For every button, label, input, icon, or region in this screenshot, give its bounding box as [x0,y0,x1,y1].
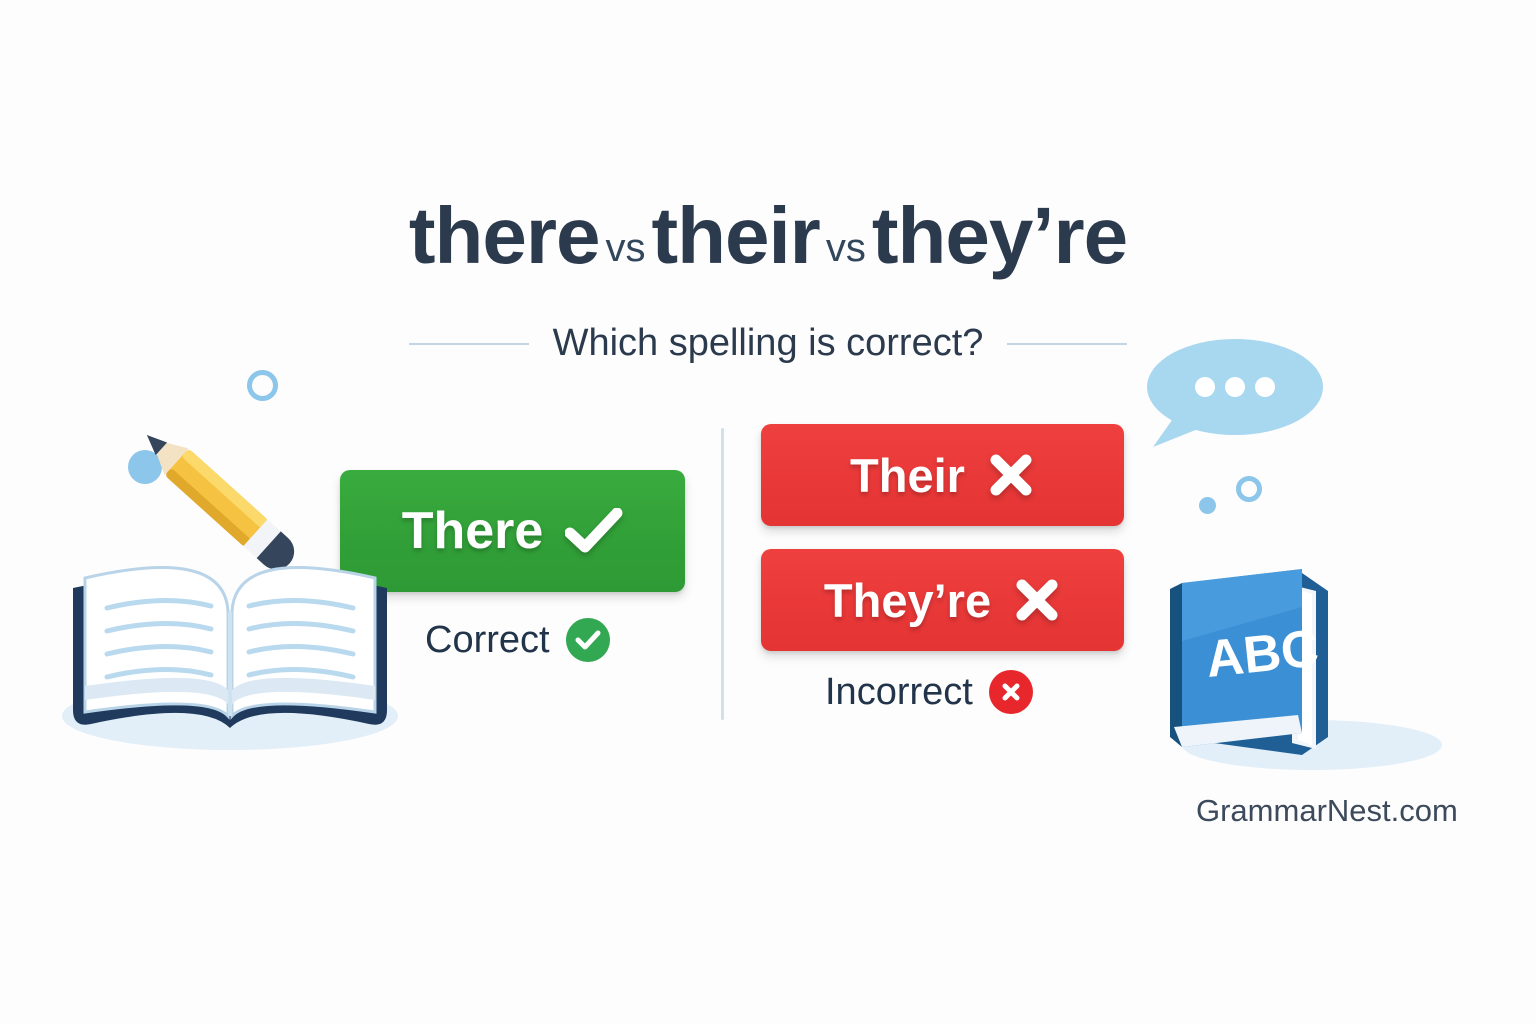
bubble-dot-3 [1255,377,1275,397]
cross-mark-icon [987,451,1035,499]
abc-book-label: ABC [1203,619,1321,688]
correct-status-label: Correct [425,619,550,662]
decor-ring-left [247,370,278,401]
title-word-theyre: they’re [872,191,1127,280]
open-book-illustration [55,420,405,760]
title-word-there: there [409,191,600,280]
correct-status: Correct [425,618,610,662]
section-divider [721,428,724,720]
incorrect-status-label: Incorrect [825,671,973,714]
cross-circle-icon [989,670,1033,714]
title-word-their: their [651,191,819,280]
decor-dot-right [1199,497,1216,514]
correct-option-label: There [402,501,544,561]
site-watermark: GrammarNest.com [1196,793,1458,829]
page-title: therevstheirvsthey’re [0,196,1536,276]
page-subtitle: Which spelling is correct? [553,322,984,365]
bubble-dot-2 [1225,377,1245,397]
title-separator-1: vs [599,226,651,270]
check-mark-icon [565,508,623,554]
incorrect-option-label-theyre: They’re [824,573,991,628]
check-circle-icon [566,618,610,662]
cross-mark-icon [1013,576,1061,624]
incorrect-option-button-theyre[interactable]: They’re [761,549,1124,651]
poster-canvas: therevstheirvsthey’re Which spelling is … [0,0,1536,1024]
bubble-dot-1 [1195,377,1215,397]
decor-ring-right [1236,476,1262,502]
subtitle-rule-right [1007,343,1127,345]
incorrect-option-button-their[interactable]: Their [761,424,1124,526]
incorrect-option-label-their: Their [850,448,965,503]
speech-bubble-illustration [1135,335,1325,455]
pencil-icon [135,422,302,577]
title-separator-2: vs [820,226,872,270]
abc-book-illustration: ABC [1152,555,1452,775]
subtitle-rule-left [409,343,529,345]
incorrect-status: Incorrect [825,670,1033,714]
